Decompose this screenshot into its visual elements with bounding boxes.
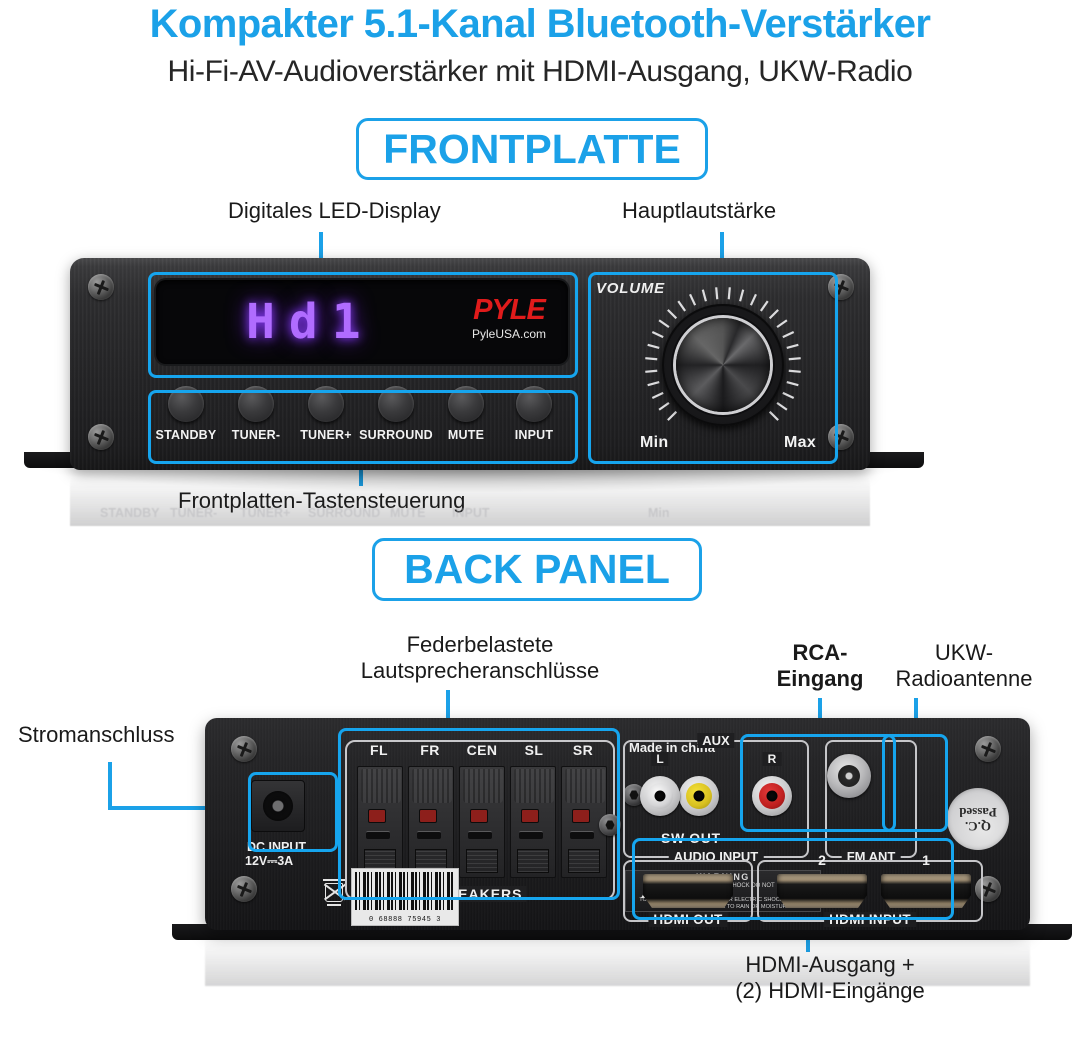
button-label-input: INPUT (515, 428, 554, 442)
callout-power-connector: Stromanschluss (18, 722, 175, 748)
speaker-channel-sr: SR (573, 742, 593, 758)
callout-rca-line1: RCA- (768, 640, 872, 666)
barcode-bars (355, 872, 455, 910)
front-panel-device: Hd1 PYLE PyleUSA.com STANDBY TUNER- TUNE… (70, 258, 870, 470)
button-label-surround: SURROUND (359, 428, 433, 442)
volume-max-label: Max (784, 434, 816, 452)
back-device-reflection (205, 930, 1030, 986)
button-label-tuner-minus: TUNER- (232, 428, 280, 442)
button-input[interactable] (516, 386, 552, 422)
pyle-brand-url: PyleUSA.com (472, 327, 546, 341)
led-display-window: Hd1 PYLE PyleUSA.com (156, 280, 568, 364)
reflection-tuner-minus: TUNER- (170, 506, 217, 520)
hdmi-input-2-port[interactable] (777, 874, 867, 908)
callout-led-display: Digitales LED-Display (228, 198, 441, 224)
hex-screw-b (599, 814, 621, 836)
callout-speaker-line2: Lautsprecheranschlüsse (355, 658, 605, 684)
speaker-terminal-fr[interactable] (408, 766, 454, 878)
hdmi-input-label: HDMI INPUT (824, 912, 916, 927)
callout-fm-antenna: UKW- Radioantenne (884, 640, 1044, 692)
speaker-terminal-sl[interactable] (510, 766, 556, 878)
reflection-mute: MUTE (390, 506, 425, 520)
hdmi-out-label: HDMI OUT (648, 912, 727, 927)
hdmi-input-2-number: 2 (818, 852, 826, 868)
reflection-surround: SURROUND (308, 506, 380, 520)
callout-antenna-line2: Radioantenne (884, 666, 1044, 692)
callout-speaker-line1: Federbelastete (355, 632, 605, 658)
speaker-channel-cen: CEN (467, 742, 498, 758)
speaker-channel-fl: FL (370, 742, 388, 758)
aux-right-rca-jack[interactable] (752, 776, 792, 816)
hdmi-out-port[interactable] (643, 874, 733, 908)
button-mute[interactable] (448, 386, 484, 422)
screw-front-bottom-left (88, 424, 114, 450)
button-label-tuner-plus: TUNER+ (300, 428, 352, 442)
page-subtitle: Hi-Fi-AV-Audioverstärker mit HDMI-Ausgan… (0, 55, 1080, 89)
speaker-channel-fr: FR (420, 742, 439, 758)
reflection-standby: STANDBY (100, 506, 160, 520)
volume-section: VOLUME (592, 274, 832, 456)
button-standby[interactable] (168, 386, 204, 422)
led-display-value: Hd1 (246, 294, 375, 350)
hdmi-input-1-port[interactable] (881, 874, 971, 908)
hdmi-input-1-number: 1 (922, 852, 930, 868)
speaker-terminal-cen[interactable] (459, 766, 505, 878)
qc-passed-sticker: Q.C. Passed (947, 788, 1009, 850)
speaker-terminal-block: FL FR CEN SL SR SPEAKERS 0 6 (345, 740, 615, 900)
aux-label: AUX (697, 733, 734, 748)
aux-left-rca-jack[interactable] (640, 776, 680, 816)
callout-rca-line2: Eingang (768, 666, 872, 692)
callout-speaker-terminals: Federbelastete Lautsprecheranschlüsse (355, 632, 605, 684)
pyle-logo: PYLE PyleUSA.com (472, 296, 546, 341)
front-button-strip: STANDBY TUNER- TUNER+ SURROUND MUTE INPU… (156, 386, 568, 448)
reflection-tuner-plus: TUNER+ (240, 506, 290, 520)
back-panel-device: DC INPUT 12V⎓3A NO. FL FR CEN SL SR (205, 718, 1030, 930)
button-label-standby: STANDBY (156, 428, 217, 442)
page-title: Kompakter 5.1-Kanal Bluetooth-Verstärker (0, 2, 1080, 47)
volume-knob[interactable] (662, 304, 784, 426)
aux-right-label: R (763, 752, 782, 766)
aux-left-label: L (651, 752, 668, 766)
callout-master-volume: Hauptlautstärke (622, 198, 776, 224)
barcode-sticker: 0 68888 75945 3 (351, 868, 459, 926)
button-tuner-minus[interactable] (238, 386, 274, 422)
button-label-mute: MUTE (448, 428, 484, 442)
section-badge-back: BACK PANEL (372, 538, 702, 601)
pyle-brand-mark: PYLE (472, 296, 546, 325)
screw-back-top-left (231, 736, 257, 762)
dc-input-label-line1: DC INPUT (247, 840, 306, 854)
button-surround[interactable] (378, 386, 414, 422)
front-device-reflection: STANDBY TUNER- TUNER+ SURROUND MUTE INPU… (70, 470, 870, 526)
callout-antenna-line1: UKW- (884, 640, 1044, 666)
reflection-input: INPUT (452, 506, 490, 520)
speaker-terminal-fl[interactable] (357, 766, 403, 878)
screw-back-top-right (975, 736, 1001, 762)
speaker-channel-sl: SL (525, 742, 544, 758)
button-tuner-plus[interactable] (308, 386, 344, 422)
barcode-number: 0 68888 75945 3 (352, 916, 458, 924)
screw-front-top-left (88, 274, 114, 300)
volume-min-label: Min (640, 434, 668, 452)
leader-line-power-vertical (108, 762, 112, 808)
volume-knob-face (676, 318, 770, 412)
weee-bin-icon (323, 878, 345, 906)
dc-power-jack[interactable] (251, 780, 305, 832)
volume-knob-assembly[interactable] (642, 284, 804, 446)
callout-rca-input: RCA- Eingang (768, 640, 872, 692)
screw-back-bottom-left (231, 876, 257, 902)
dc-input-label-line2: 12V⎓3A (245, 854, 293, 869)
fm-antenna-jack[interactable] (827, 754, 871, 798)
infographic-page: Kompakter 5.1-Kanal Bluetooth-Verstärker… (0, 0, 1080, 1046)
section-badge-front: FRONTPLATTE (356, 118, 708, 180)
reflection-min: Min (648, 506, 670, 520)
